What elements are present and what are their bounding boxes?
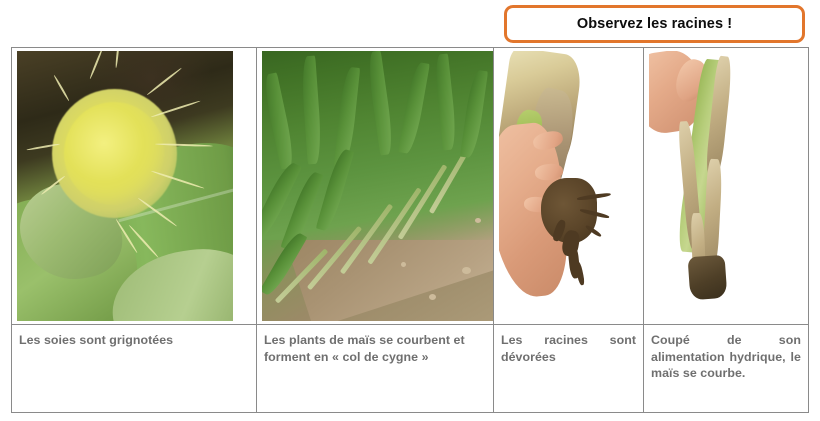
corn-silk-photo [17, 51, 233, 321]
caption-goosenecking: Les plants de maïs se courbent et formen… [264, 332, 486, 365]
caption-roots: Les racines sont dévorées [501, 332, 636, 365]
image-cell-goosenecking [257, 48, 494, 324]
photo-table: Les soies sont grignotées Les plants de … [11, 47, 809, 413]
soil-pebble [429, 294, 436, 300]
caption-cell-roots: Les racines sont dévorées [494, 325, 644, 412]
bent-stalk-photo [649, 51, 804, 321]
image-cell-roots [494, 48, 644, 324]
callout-observe-roots: Observez les racines ! [504, 5, 805, 43]
caption-cell-bent-stalk: Coupé de son alimentation hydrique, le m… [644, 325, 808, 412]
root-strand [575, 261, 586, 286]
caption-bent-stalk: Coupé de son alimentation hydrique, le m… [651, 332, 801, 382]
page-root: Observez les racines ! [0, 0, 820, 421]
silk-strand [115, 51, 120, 68]
devoured-roots-photo [499, 51, 639, 321]
callout-title: Observez les racines ! [577, 16, 732, 32]
silk-strand [90, 51, 105, 79]
caption-cell-silks: Les soies sont grignotées [12, 325, 257, 412]
caption-cell-goosenecking: Les plants de maïs se courbent et formen… [257, 325, 494, 412]
silk-tuft [52, 89, 177, 219]
silk-strand [146, 67, 182, 96]
silk-strand [53, 74, 70, 101]
soil-pebble [401, 262, 406, 267]
image-cell-silks [12, 48, 257, 324]
stalk-base [688, 255, 728, 301]
caption-silks: Les soies sont grignotées [19, 332, 249, 349]
table-row-captions: Les soies sont grignotées Les plants de … [12, 324, 808, 412]
soil-pebble [462, 267, 471, 274]
lodged-corn-field-photo [262, 51, 494, 321]
image-cell-bent-stalk [644, 48, 808, 324]
table-row-images [12, 48, 808, 324]
